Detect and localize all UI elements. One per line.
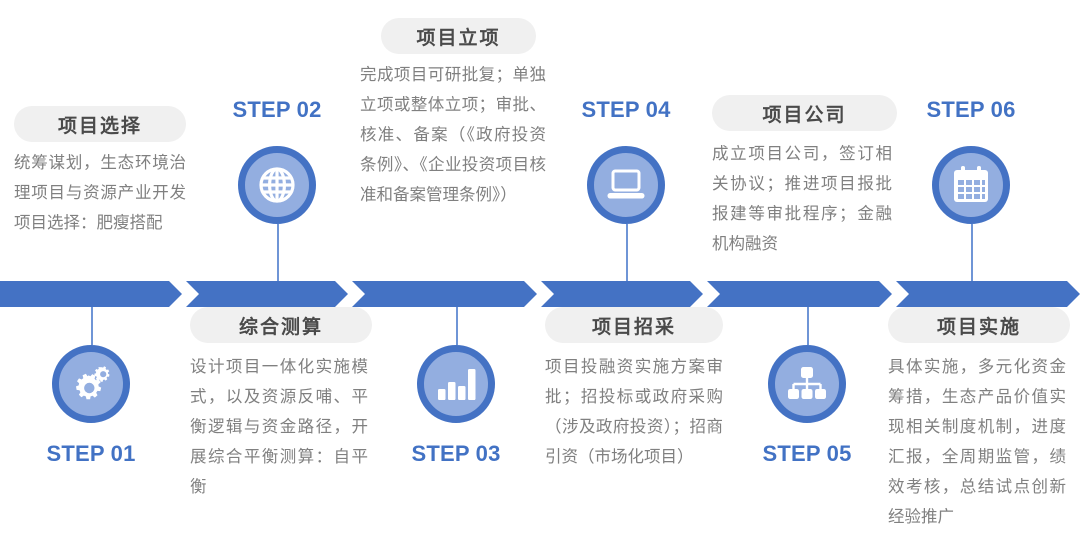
- step-3-body: 完成项目可研批复；单独立项或整体立项；审批、核准、备案（《政府投资条例》、《企业…: [360, 60, 546, 210]
- step-5-label: STEP 05: [727, 441, 887, 467]
- band-segment-5: [707, 281, 892, 307]
- step-2-body: 设计项目一体化实施模式，以及资源反哺、平衡逻辑与资金路径，开展综合平衡测算：自平…: [190, 352, 368, 502]
- step-1-title: 项目选择: [58, 111, 142, 138]
- step-5-node[interactable]: [768, 345, 846, 423]
- step-1-node[interactable]: [52, 345, 130, 423]
- step-3-title-pill: 项目立项: [381, 18, 536, 54]
- band-segment-6: [896, 281, 1080, 307]
- step-1-label: STEP 01: [11, 441, 171, 467]
- step-2-node[interactable]: [238, 146, 316, 224]
- step-4-title-pill: 项目招采: [545, 307, 723, 343]
- connector-stem-3: [456, 307, 458, 345]
- process-arrow-band: [0, 281, 1080, 307]
- step-3-title: 项目立项: [416, 23, 500, 50]
- calendar-icon: [951, 165, 991, 205]
- step-6-title: 项目实施: [937, 312, 1021, 339]
- connector-stem-2: [277, 224, 279, 281]
- bar-chart-icon: [435, 364, 477, 404]
- gears-icon: [68, 361, 114, 407]
- step-3-node[interactable]: [417, 345, 495, 423]
- step-4-title: 项目招采: [592, 312, 676, 339]
- step-4-label: STEP 04: [546, 97, 706, 123]
- step-5-title-pill: 项目公司: [712, 95, 897, 131]
- connector-stem-1: [91, 307, 93, 345]
- step-6-title-pill: 项目实施: [888, 307, 1070, 343]
- step-4-body: 项目投融资实施方案审批；招投标或政府采购（涉及政府投资）；招商引资（市场化项目）: [545, 352, 723, 472]
- band-segment-1: [0, 281, 182, 307]
- step-4-node[interactable]: [587, 146, 665, 224]
- band-segment-3: [352, 281, 537, 307]
- step-1-title-pill: 项目选择: [14, 106, 186, 142]
- step-6-node[interactable]: [932, 146, 1010, 224]
- step-2-title-pill: 综合测算: [190, 307, 372, 343]
- step-1-body: 统筹谋划，生态环境治理项目与资源产业开发项目选择：肥瘦搭配: [14, 148, 186, 238]
- step-2-label: STEP 02: [197, 97, 357, 123]
- band-segment-4: [541, 281, 703, 307]
- step-3-label: STEP 03: [376, 441, 536, 467]
- globe-icon: [255, 163, 299, 207]
- step-5-body: 成立项目公司，签订相关协议；推进项目报批报建等审批程序；金融机构融资: [712, 139, 892, 259]
- step-6-body: 具体实施，多元化资金筹措，生态产品价值实现相关制度机制，进度汇报，全周期监管，绩…: [888, 352, 1066, 532]
- step-5-title: 项目公司: [762, 100, 846, 127]
- connector-stem-5: [807, 307, 809, 345]
- org-chart-icon: [786, 365, 828, 403]
- step-2-title: 综合测算: [239, 312, 323, 339]
- laptop-icon: [604, 165, 648, 205]
- band-segment-2: [186, 281, 348, 307]
- process-flow-diagram: 项目选择 统筹谋划，生态环境治理项目与资源产业开发项目选择：肥瘦搭配 STEP …: [0, 0, 1080, 552]
- connector-stem-4: [626, 224, 628, 281]
- step-6-label: STEP 06: [891, 97, 1051, 123]
- connector-stem-6: [971, 224, 973, 281]
